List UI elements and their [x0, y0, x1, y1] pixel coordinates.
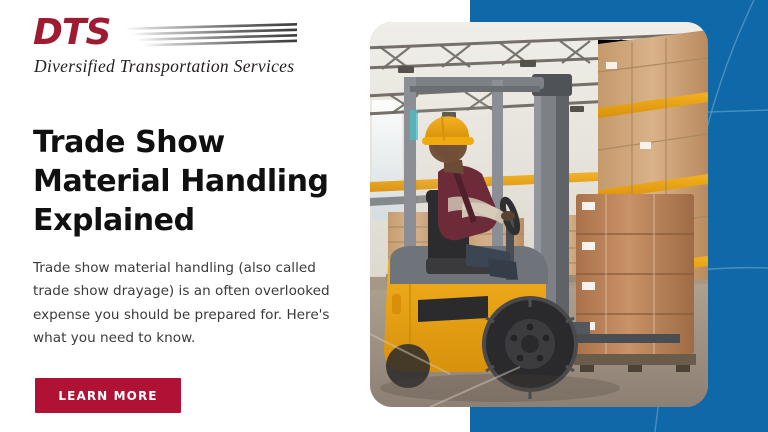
- speed-lines-icon: [121, 22, 297, 48]
- logo-mark: DTS: [33, 18, 295, 55]
- body-paragraph: Trade show material handling (also calle…: [33, 257, 345, 351]
- promo-banner: DTS: [0, 0, 768, 432]
- dts-logo[interactable]: DTS: [33, 18, 295, 78]
- logo-tagline: Diversified Transportation Services: [34, 56, 294, 77]
- logo-wordmark: DTS: [33, 15, 110, 51]
- photo-artwork: [370, 22, 708, 407]
- learn-more-button[interactable]: LEARN MORE: [35, 378, 181, 413]
- page-title: Trade Show Material Handling Explained: [33, 123, 363, 240]
- forklift-warehouse-photo: [370, 22, 708, 407]
